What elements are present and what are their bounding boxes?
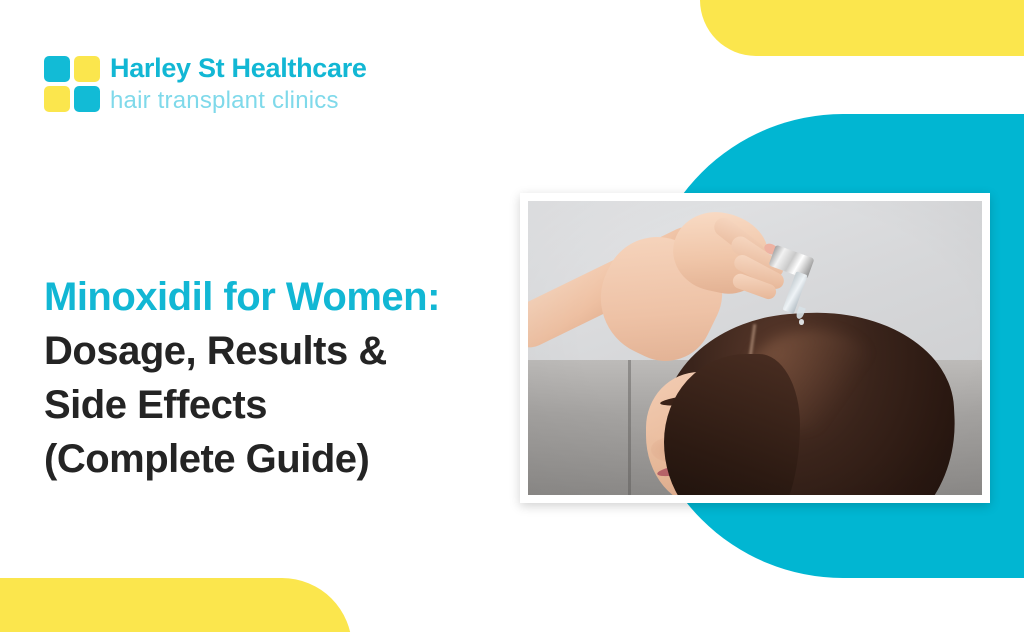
headline-line-3: Side Effects (44, 378, 514, 432)
yellow-bottom-left-banner-shape (0, 578, 352, 632)
hero-photo-frame (520, 193, 990, 503)
page-title: Minoxidil for Women: Dosage, Results & S… (44, 270, 514, 486)
headline-line-4: (Complete Guide) (44, 432, 514, 486)
logo-square-top-right (74, 56, 100, 82)
logo-title: Harley St Healthcare (110, 55, 367, 82)
headline-line-2: Dosage, Results & (44, 324, 514, 378)
brand-logo[interactable]: Harley St Healthcare hair transplant cli… (44, 55, 367, 113)
logo-square-top-left (44, 56, 70, 82)
logo-square-bottom-left (44, 86, 70, 112)
hero-photo (528, 201, 982, 495)
logo-text-block: Harley St Healthcare hair transplant cli… (110, 55, 367, 113)
headline-accent-line: Minoxidil for Women: (44, 270, 514, 324)
banner-canvas: Harley St Healthcare hair transplant cli… (0, 0, 1024, 632)
logo-mark-icon (44, 56, 100, 112)
logo-tagline: hair transplant clinics (110, 89, 367, 113)
yellow-top-right-banner-shape (700, 0, 1024, 56)
logo-square-bottom-right (74, 86, 100, 112)
photo-background-seam (628, 360, 631, 495)
